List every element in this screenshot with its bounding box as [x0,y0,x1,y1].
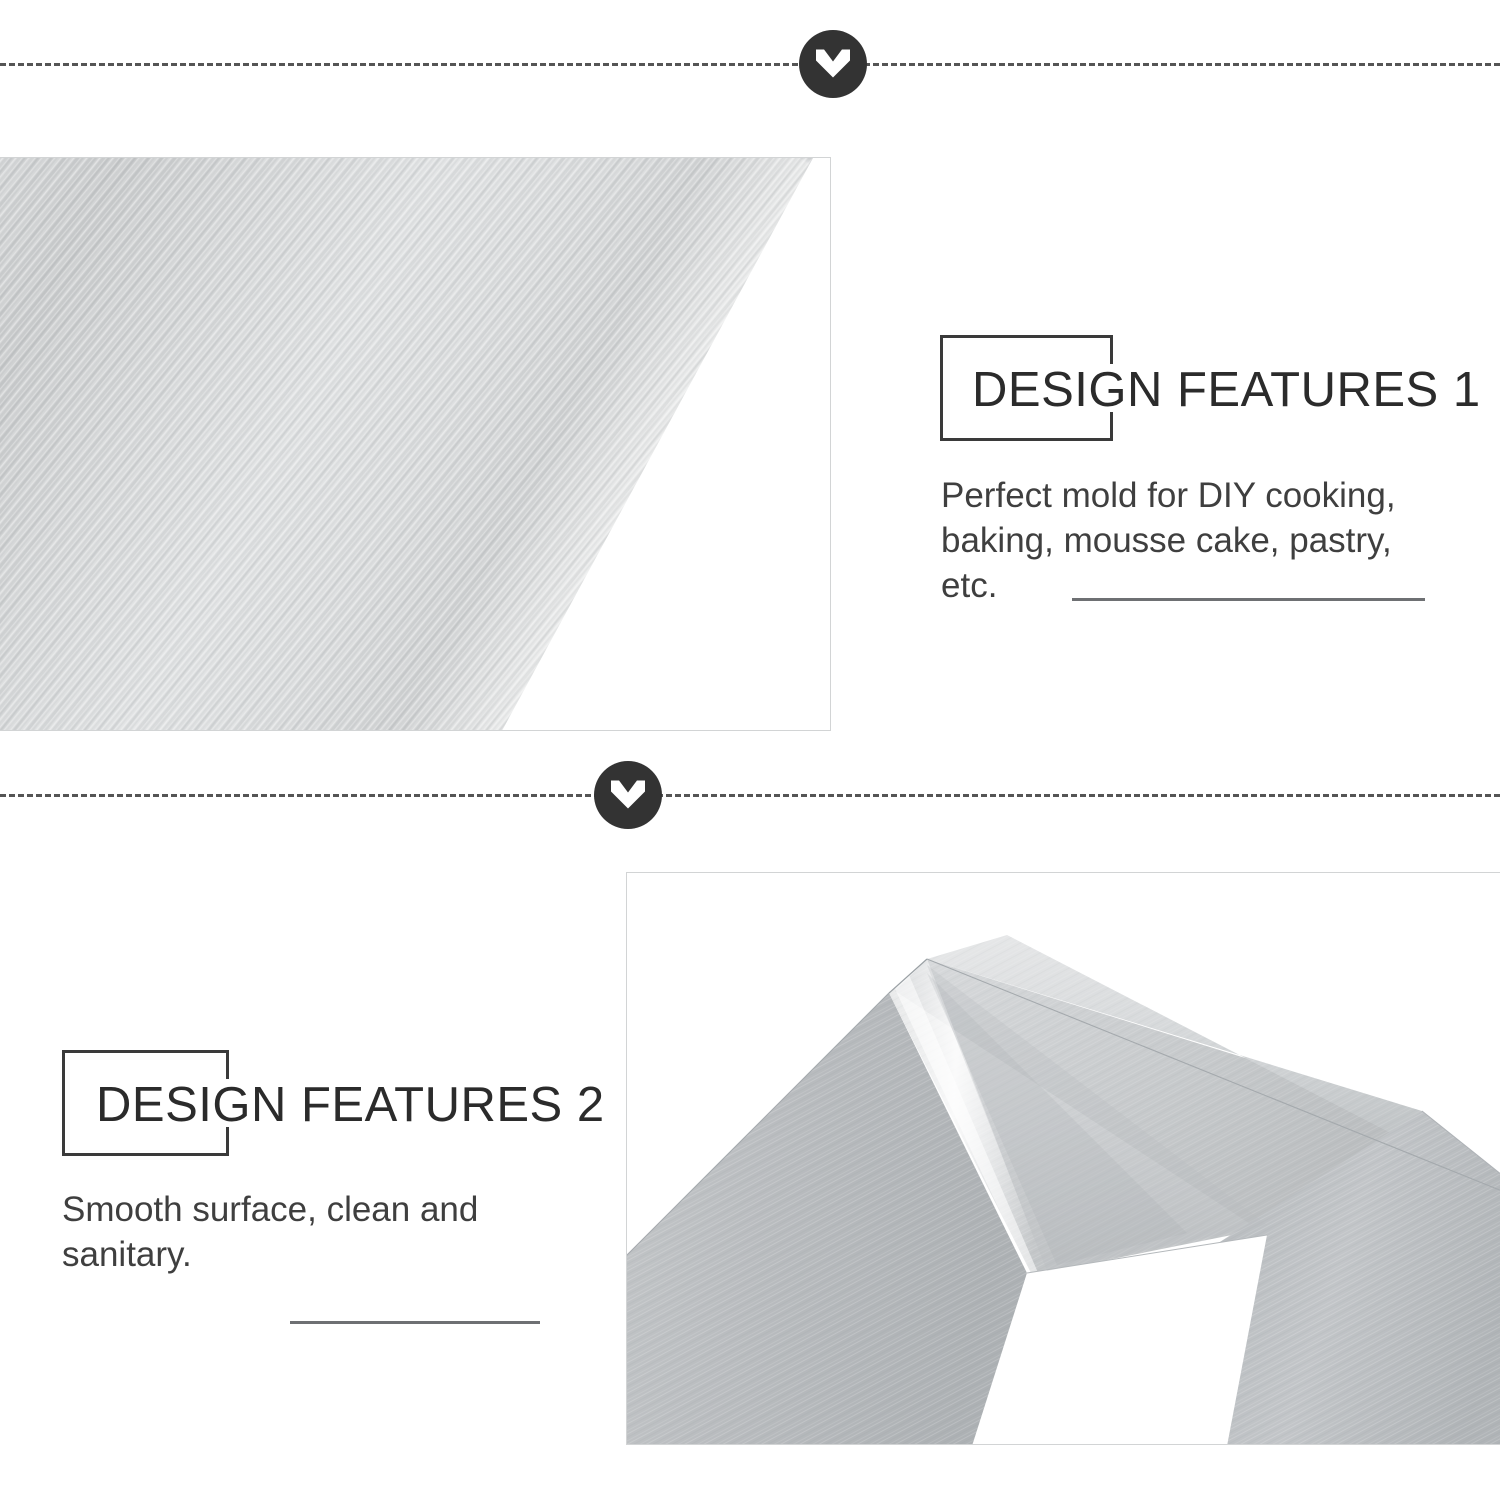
chevron-down-badge-2[interactable] [594,761,662,829]
feature-2-title: DESIGN FEATURES 2 [96,1077,605,1133]
product-photo-square-mold [626,872,1500,1445]
feature-2-underline [290,1321,540,1324]
feature-1-description: Perfect mold for DIY cooking, baking, mo… [941,474,1441,608]
chevron-down-badge-1[interactable] [799,30,867,98]
feature-1-underline [1072,598,1425,601]
steel-edge-highlight-top [124,157,814,164]
chevron-down-icon [816,49,850,77]
brushed-steel-surface [0,157,814,731]
product-photo-steel-band [0,157,831,731]
dashed-rule [0,63,1500,66]
feature-1-title: DESIGN FEATURES 1 [972,362,1481,418]
chevron-down-icon [611,780,645,808]
product-feature-infographic: DESIGN FEATURES 1 Perfect mold for DIY c… [0,0,1500,1500]
dashed-rule [0,794,1500,797]
divider-middle [0,761,1500,831]
square-mold-ring-illustration [627,873,1500,1445]
feature-2-description: Smooth surface, clean and sanitary. [62,1188,532,1278]
divider-top [0,30,1500,100]
